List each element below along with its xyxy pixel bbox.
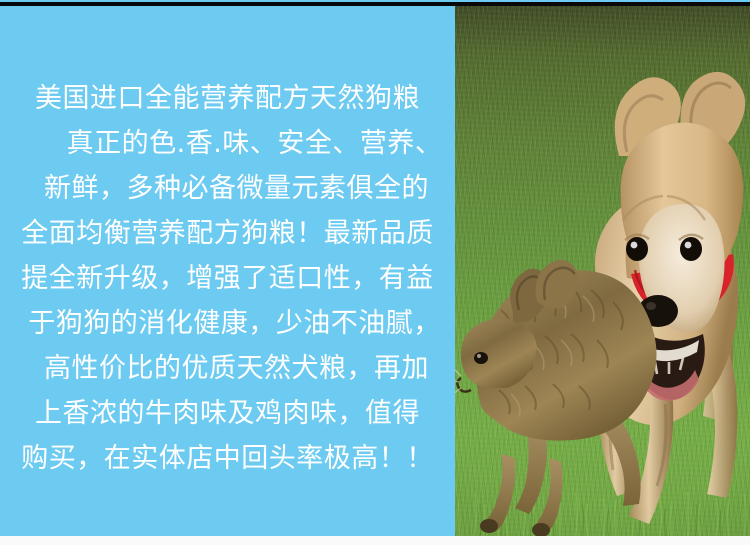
- product-banner: 美国进口全能营养配方天然狗粮 真正的色.香.味、安全、营养、 新鲜，多种必备微量…: [0, 0, 750, 545]
- copy-line-5: 提全新升级，增强了适口性，有益: [0, 256, 455, 301]
- copy-line-6: 于狗狗的消化健康，少油不油腻，: [0, 301, 455, 346]
- copy-panel: 美国进口全能营养配方天然狗粮 真正的色.香.味、安全、营养、 新鲜，多种必备微量…: [0, 6, 455, 536]
- banner-content: 美国进口全能营养配方天然狗粮 真正的色.香.味、安全、营养、 新鲜，多种必备微量…: [0, 6, 750, 536]
- copy-line-4: 全面均衡营养配方狗粮！最新品质: [0, 211, 455, 256]
- copy-line-9: 购买，在实体店中回头率极高！！: [0, 436, 455, 481]
- copy-text-block: 美国进口全能营养配方天然狗粮 真正的色.香.味、安全、营养、 新鲜，多种必备微量…: [0, 76, 455, 481]
- copy-line-2: 真正的色.香.味、安全、营养、: [0, 121, 455, 166]
- product-photo: [455, 6, 750, 536]
- copy-line-7: 高性价比的优质天然犬粮，再加: [0, 346, 455, 391]
- bottom-white-strip: [0, 536, 750, 545]
- copy-line-3: 新鲜，多种必备微量元素俱全的: [0, 166, 455, 211]
- running-hare-illustration: [455, 6, 750, 536]
- copy-line-8: 上香浓的牛肉味及鸡肉味，值得: [0, 391, 455, 436]
- copy-line-1: 美国进口全能营养配方天然狗粮: [0, 76, 455, 121]
